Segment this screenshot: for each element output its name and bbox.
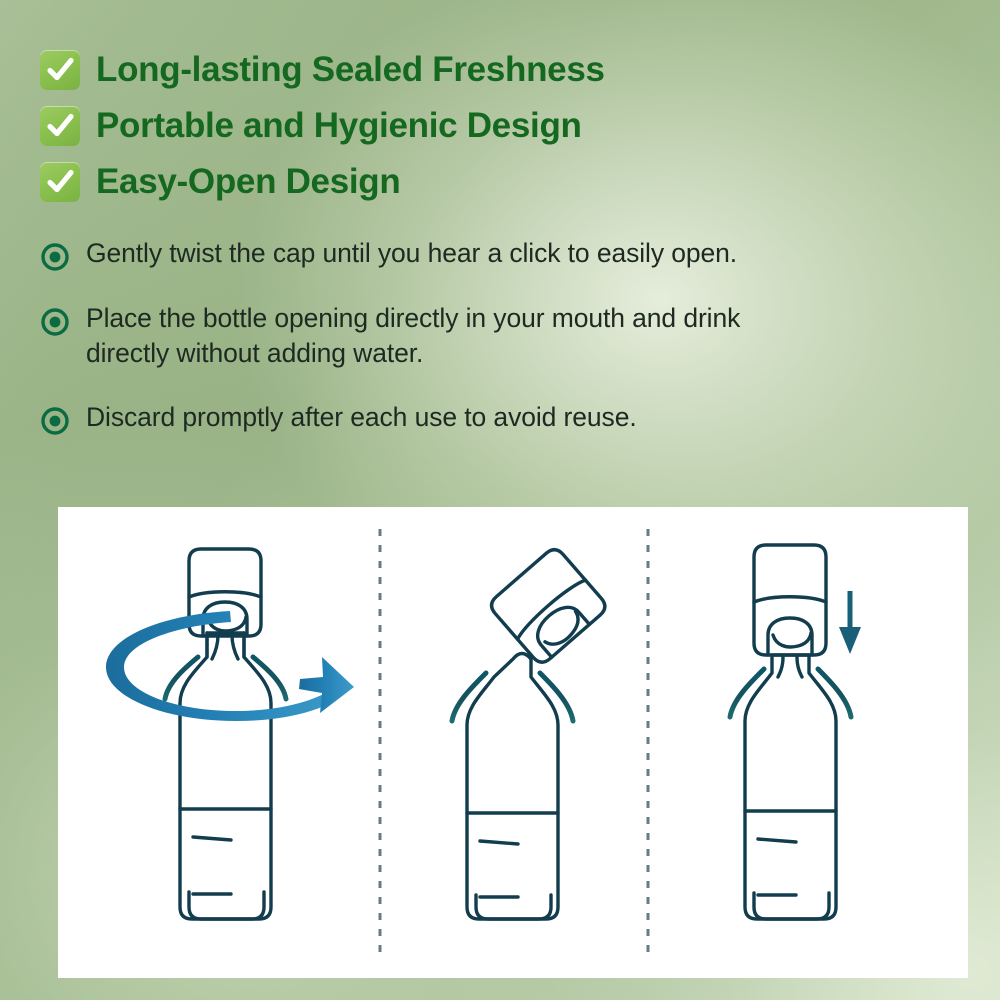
instruction-list: Gently twist the cap until you hear a cl… xyxy=(40,236,830,465)
radio-dot-icon xyxy=(40,307,70,337)
feature-item: Portable and Hygienic Design xyxy=(40,98,820,154)
instruction-item: Gently twist the cap until you hear a cl… xyxy=(40,236,830,272)
check-square-icon xyxy=(40,50,80,90)
feature-item: Long-lasting Sealed Freshness xyxy=(40,42,820,98)
remove-cap-illustration xyxy=(452,654,573,958)
feature-label: Portable and Hygienic Design xyxy=(96,106,582,146)
rotate-arrow-icon xyxy=(106,611,354,721)
illustration-panel xyxy=(58,507,968,978)
twist-cap-illustration xyxy=(165,549,286,957)
feature-label: Easy-Open Design xyxy=(96,162,400,202)
instruction-item: Place the bottle opening directly in you… xyxy=(40,301,830,371)
tilted-cap-icon xyxy=(487,545,609,666)
feature-list: Long-lasting Sealed Freshness Portable a… xyxy=(40,42,820,210)
feature-item: Easy-Open Design xyxy=(40,154,820,210)
replace-cap-illustration xyxy=(730,545,851,957)
instruction-text: Place the bottle opening directly in you… xyxy=(86,301,830,371)
instruction-text: Gently twist the cap until you hear a cl… xyxy=(86,236,737,271)
instruction-item: Discard promptly after each use to avoid… xyxy=(40,400,830,436)
radio-dot-icon xyxy=(40,406,70,436)
feature-label: Long-lasting Sealed Freshness xyxy=(96,50,605,90)
radio-dot-icon xyxy=(40,242,70,272)
check-square-icon xyxy=(40,162,80,202)
check-square-icon xyxy=(40,106,80,146)
product-infographic: Long-lasting Sealed Freshness Portable a… xyxy=(0,0,1000,1000)
instruction-text: Discard promptly after each use to avoid… xyxy=(86,400,637,435)
down-arrow-icon xyxy=(839,591,861,654)
